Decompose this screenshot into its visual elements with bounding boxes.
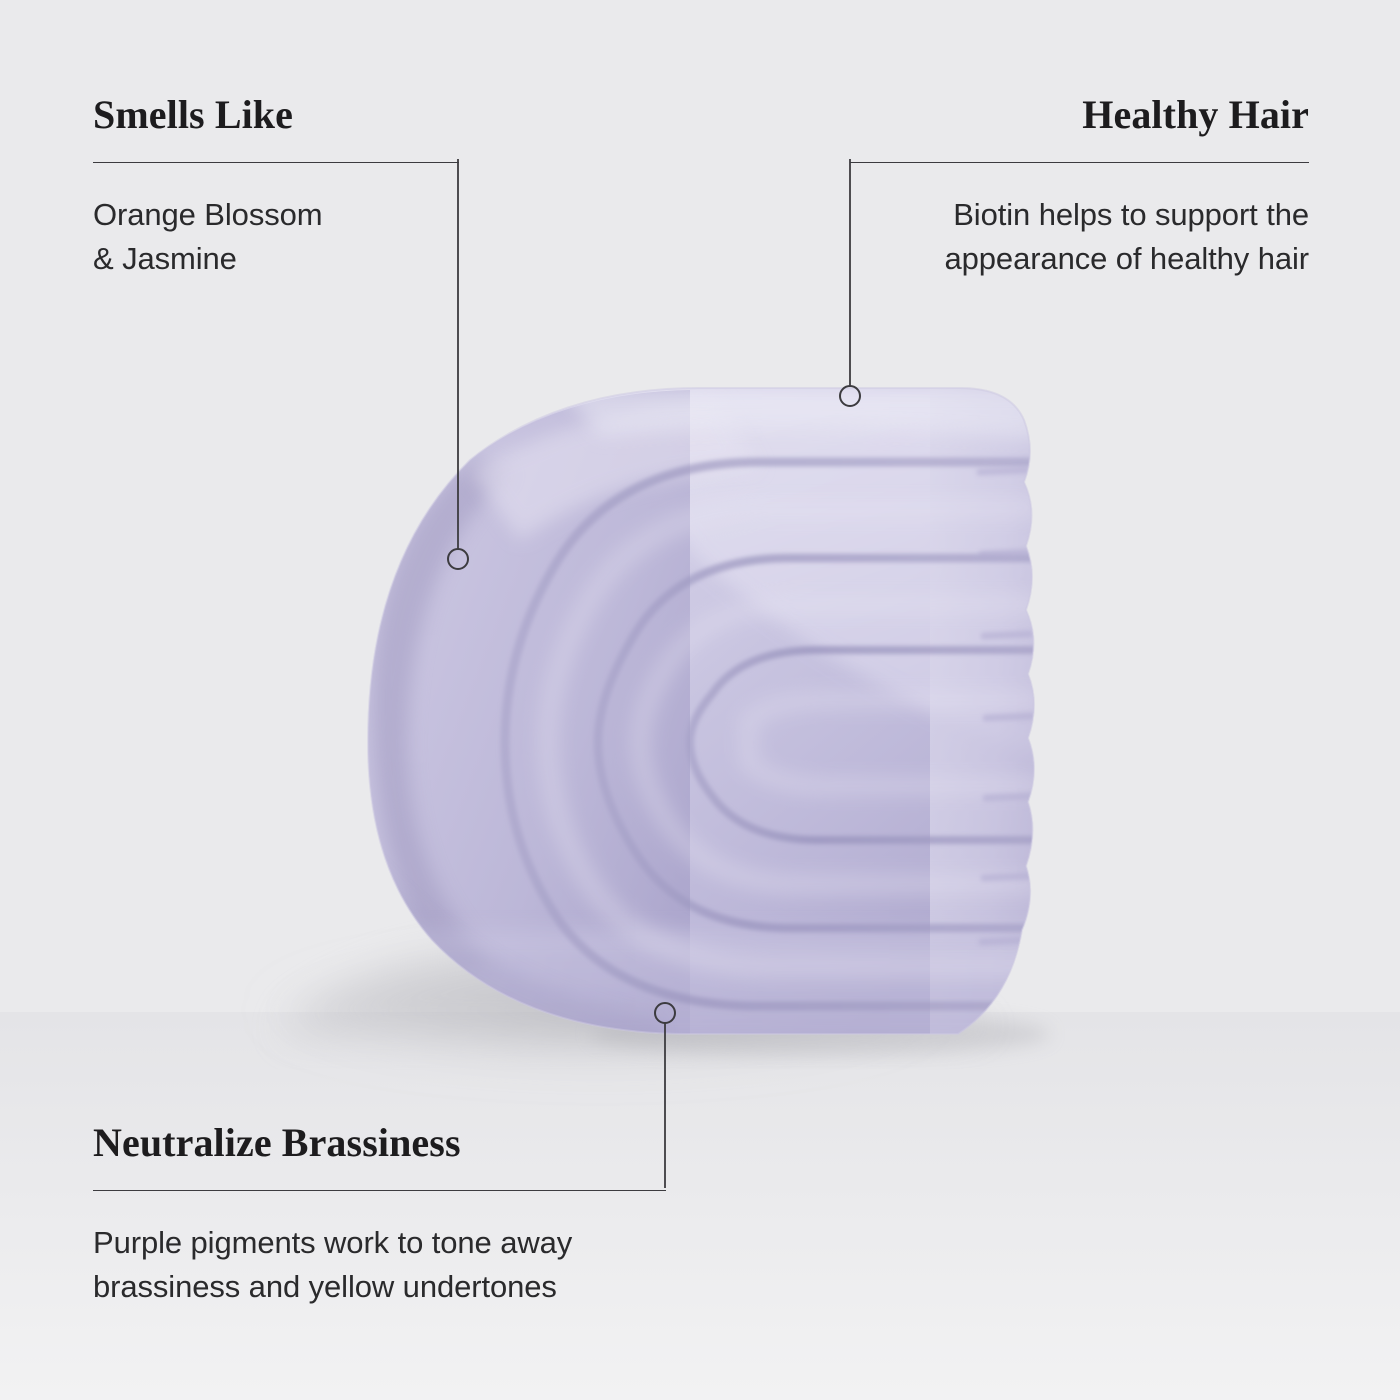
callout-neutralize-brassiness: Neutralize Brassiness Purple pigments wo… [93,1120,666,1309]
callout-title-healthy-hair: Healthy Hair [850,92,1309,138]
callout-body-line: brassiness and yellow undertones [93,1269,557,1304]
callout-body-healthy-hair: Biotin helps to support the appearance o… [850,193,1309,281]
callout-rule-neutralize-brassiness [93,1190,666,1191]
product-body [368,388,1060,1050]
callout-body-neutralize-brassiness: Purple pigments work to tone away brassi… [93,1221,666,1309]
callout-body-line: appearance of healthy hair [945,241,1310,276]
callout-body-line: Biotin helps to support the [953,197,1309,232]
callout-body-smells-like: Orange Blossom & Jasmine [93,193,459,281]
callout-smells-like: Smells Like Orange Blossom & Jasmine [93,92,459,281]
callout-body-line: Purple pigments work to tone away [93,1225,572,1260]
callout-title-smells-like: Smells Like [93,92,459,138]
callout-rule-smells-like [93,162,459,163]
infographic-canvas: Smells Like Orange Blossom & Jasmine Hea… [0,0,1400,1400]
callout-body-line: & Jasmine [93,241,237,276]
callout-healthy-hair: Healthy Hair Biotin helps to support the… [850,92,1309,281]
callout-rule-healthy-hair [850,162,1309,163]
callout-body-line: Orange Blossom [93,197,322,232]
callout-title-neutralize-brassiness: Neutralize Brassiness [93,1120,666,1166]
